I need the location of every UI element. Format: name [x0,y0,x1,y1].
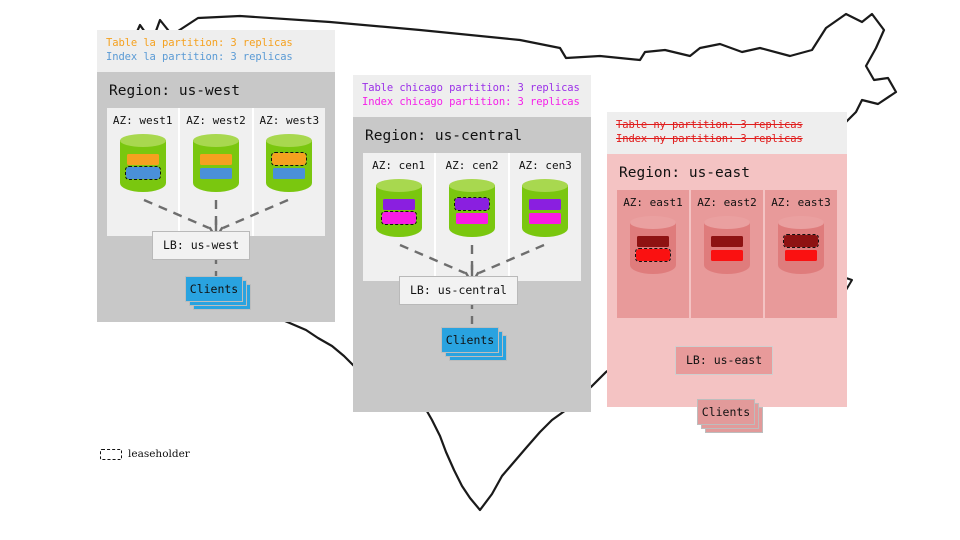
az-strip-us-east: AZ: east1 AZ: east2 [617,190,837,318]
table-replica-band-leaseholder [455,198,489,210]
index-replica-band [785,250,817,261]
az-label-west2: AZ: west2 [182,114,249,127]
table-replica-band [711,236,743,247]
load-balancer-us-central[interactable]: LB: us-central [399,276,518,305]
clients-label-us-central: Clients [446,333,494,347]
az-label-west3: AZ: west3 [256,114,323,127]
load-balancer-us-east[interactable]: LB: us-east [675,346,773,375]
az-strip-us-west: AZ: west1 AZ: west2 [107,108,325,236]
table-replica-band [200,154,232,165]
az-cell-east2[interactable]: AZ: east2 [691,190,765,318]
cylinder-top [630,216,676,229]
az-cell-cen1[interactable]: AZ: cen1 [363,153,436,281]
db-node-east3[interactable] [778,216,824,278]
region-title-us-east: Region: us-east [619,165,837,181]
index-replica-band-leaseholder [126,167,160,179]
region-title-us-central: Region: us-central [365,128,581,144]
cylinder-top [522,179,568,192]
index-replica-band-leaseholder [636,249,670,261]
region-us-west: Table la partition: 3 replicas Index la … [97,30,335,322]
db-node-east2[interactable] [704,216,750,278]
table-replica-band [637,236,669,247]
cylinder-body [376,185,422,237]
cylinder-body [778,222,824,274]
table-replica-band [383,199,415,210]
db-node-cen3[interactable] [522,179,568,241]
cylinder-top [193,134,239,147]
az-label-east2: AZ: east2 [693,196,761,209]
index-replica-band [200,168,232,179]
dashed-rectangle-icon [100,449,122,460]
banner-index-line-us-central: Index chicago partition: 3 replicas [362,95,582,109]
az-cell-cen3[interactable]: AZ: cen3 [510,153,581,281]
clients-sheet-front: Clients [697,399,755,425]
table-replica-band [529,199,561,210]
db-node-west2[interactable] [193,134,239,196]
region-title-us-west: Region: us-west [109,83,325,99]
db-node-west1[interactable] [120,134,166,196]
cylinder-top [449,179,495,192]
cylinder-top [778,216,824,229]
region-us-east: Table ny partition: 3 replicas Index ny … [607,112,847,407]
banner-table-line-us-west: Table la partition: 3 replicas [106,36,326,50]
cylinder-body [193,140,239,192]
cylinder-body [120,140,166,192]
cylinder-top [266,134,312,147]
region-body-us-west: Region: us-west AZ: west1 AZ: west2 [97,72,335,322]
cylinder-top [120,134,166,147]
clients-label-us-east: Clients [702,405,750,419]
az-cell-west3[interactable]: AZ: west3 [254,108,325,236]
region-us-central: Table chicago partition: 3 replicas Inde… [353,75,591,412]
az-label-cen1: AZ: cen1 [365,159,432,172]
lb-label-us-west: LB: us-west [163,238,239,252]
cylinder-body [630,222,676,274]
load-balancer-us-west[interactable]: LB: us-west [152,231,250,260]
cylinder-body [449,185,495,237]
index-replica-band [273,168,305,179]
table-replica-band [127,154,159,165]
banner-index-line-us-east: Index ny partition: 3 replicas [616,132,838,146]
db-node-cen2[interactable] [449,179,495,241]
cylinder-body [266,140,312,192]
az-label-cen2: AZ: cen2 [438,159,505,172]
az-label-west1: AZ: west1 [109,114,176,127]
clients-sheet-front: Clients [441,327,499,353]
banner-us-west: Table la partition: 3 replicas Index la … [97,30,335,72]
cylinder-top [704,216,750,229]
banner-table-line-us-central: Table chicago partition: 3 replicas [362,81,582,95]
cylinder-body [704,222,750,274]
az-cell-west2[interactable]: AZ: west2 [180,108,253,236]
legend-label: leaseholder [128,448,190,460]
banner-us-east: Table ny partition: 3 replicas Index ny … [607,112,847,154]
clients-label-us-west: Clients [190,282,238,296]
index-replica-band [456,213,488,224]
clients-us-east[interactable]: Clients [697,399,759,437]
az-cell-east3[interactable]: AZ: east3 [765,190,837,318]
diagram-canvas: leaseholder Table la partition: 3 replic… [0,0,960,540]
az-cell-east1[interactable]: AZ: east1 [617,190,691,318]
index-replica-band [529,213,561,224]
az-label-cen3: AZ: cen3 [512,159,579,172]
lb-label-us-east: LB: us-east [686,353,762,367]
region-body-us-east: Region: us-east AZ: east1 AZ: east2 [607,154,847,407]
legend: leaseholder [100,448,190,460]
banner-index-line-us-west: Index la partition: 3 replicas [106,50,326,64]
cylinder-top [376,179,422,192]
az-label-east1: AZ: east1 [619,196,687,209]
db-node-cen1[interactable] [376,179,422,241]
banner-table-line-us-east: Table ny partition: 3 replicas [616,118,838,132]
cylinder-body [522,185,568,237]
az-strip-us-central: AZ: cen1 AZ: cen2 [363,153,581,281]
az-cell-west1[interactable]: AZ: west1 [107,108,180,236]
index-replica-band [711,250,743,261]
clients-sheet-front: Clients [185,276,243,302]
table-replica-band-leaseholder [272,153,306,165]
region-body-us-central: Region: us-central AZ: cen1 AZ: cen2 [353,117,591,412]
db-node-east1[interactable] [630,216,676,278]
index-replica-band-leaseholder [382,212,416,224]
az-cell-cen2[interactable]: AZ: cen2 [436,153,509,281]
lb-label-us-central: LB: us-central [410,283,507,297]
clients-us-west[interactable]: Clients [185,276,247,314]
az-label-east3: AZ: east3 [767,196,835,209]
banner-us-central: Table chicago partition: 3 replicas Inde… [353,75,591,117]
db-node-west3[interactable] [266,134,312,196]
table-replica-band-leaseholder [784,235,818,247]
clients-us-central[interactable]: Clients [441,327,503,365]
